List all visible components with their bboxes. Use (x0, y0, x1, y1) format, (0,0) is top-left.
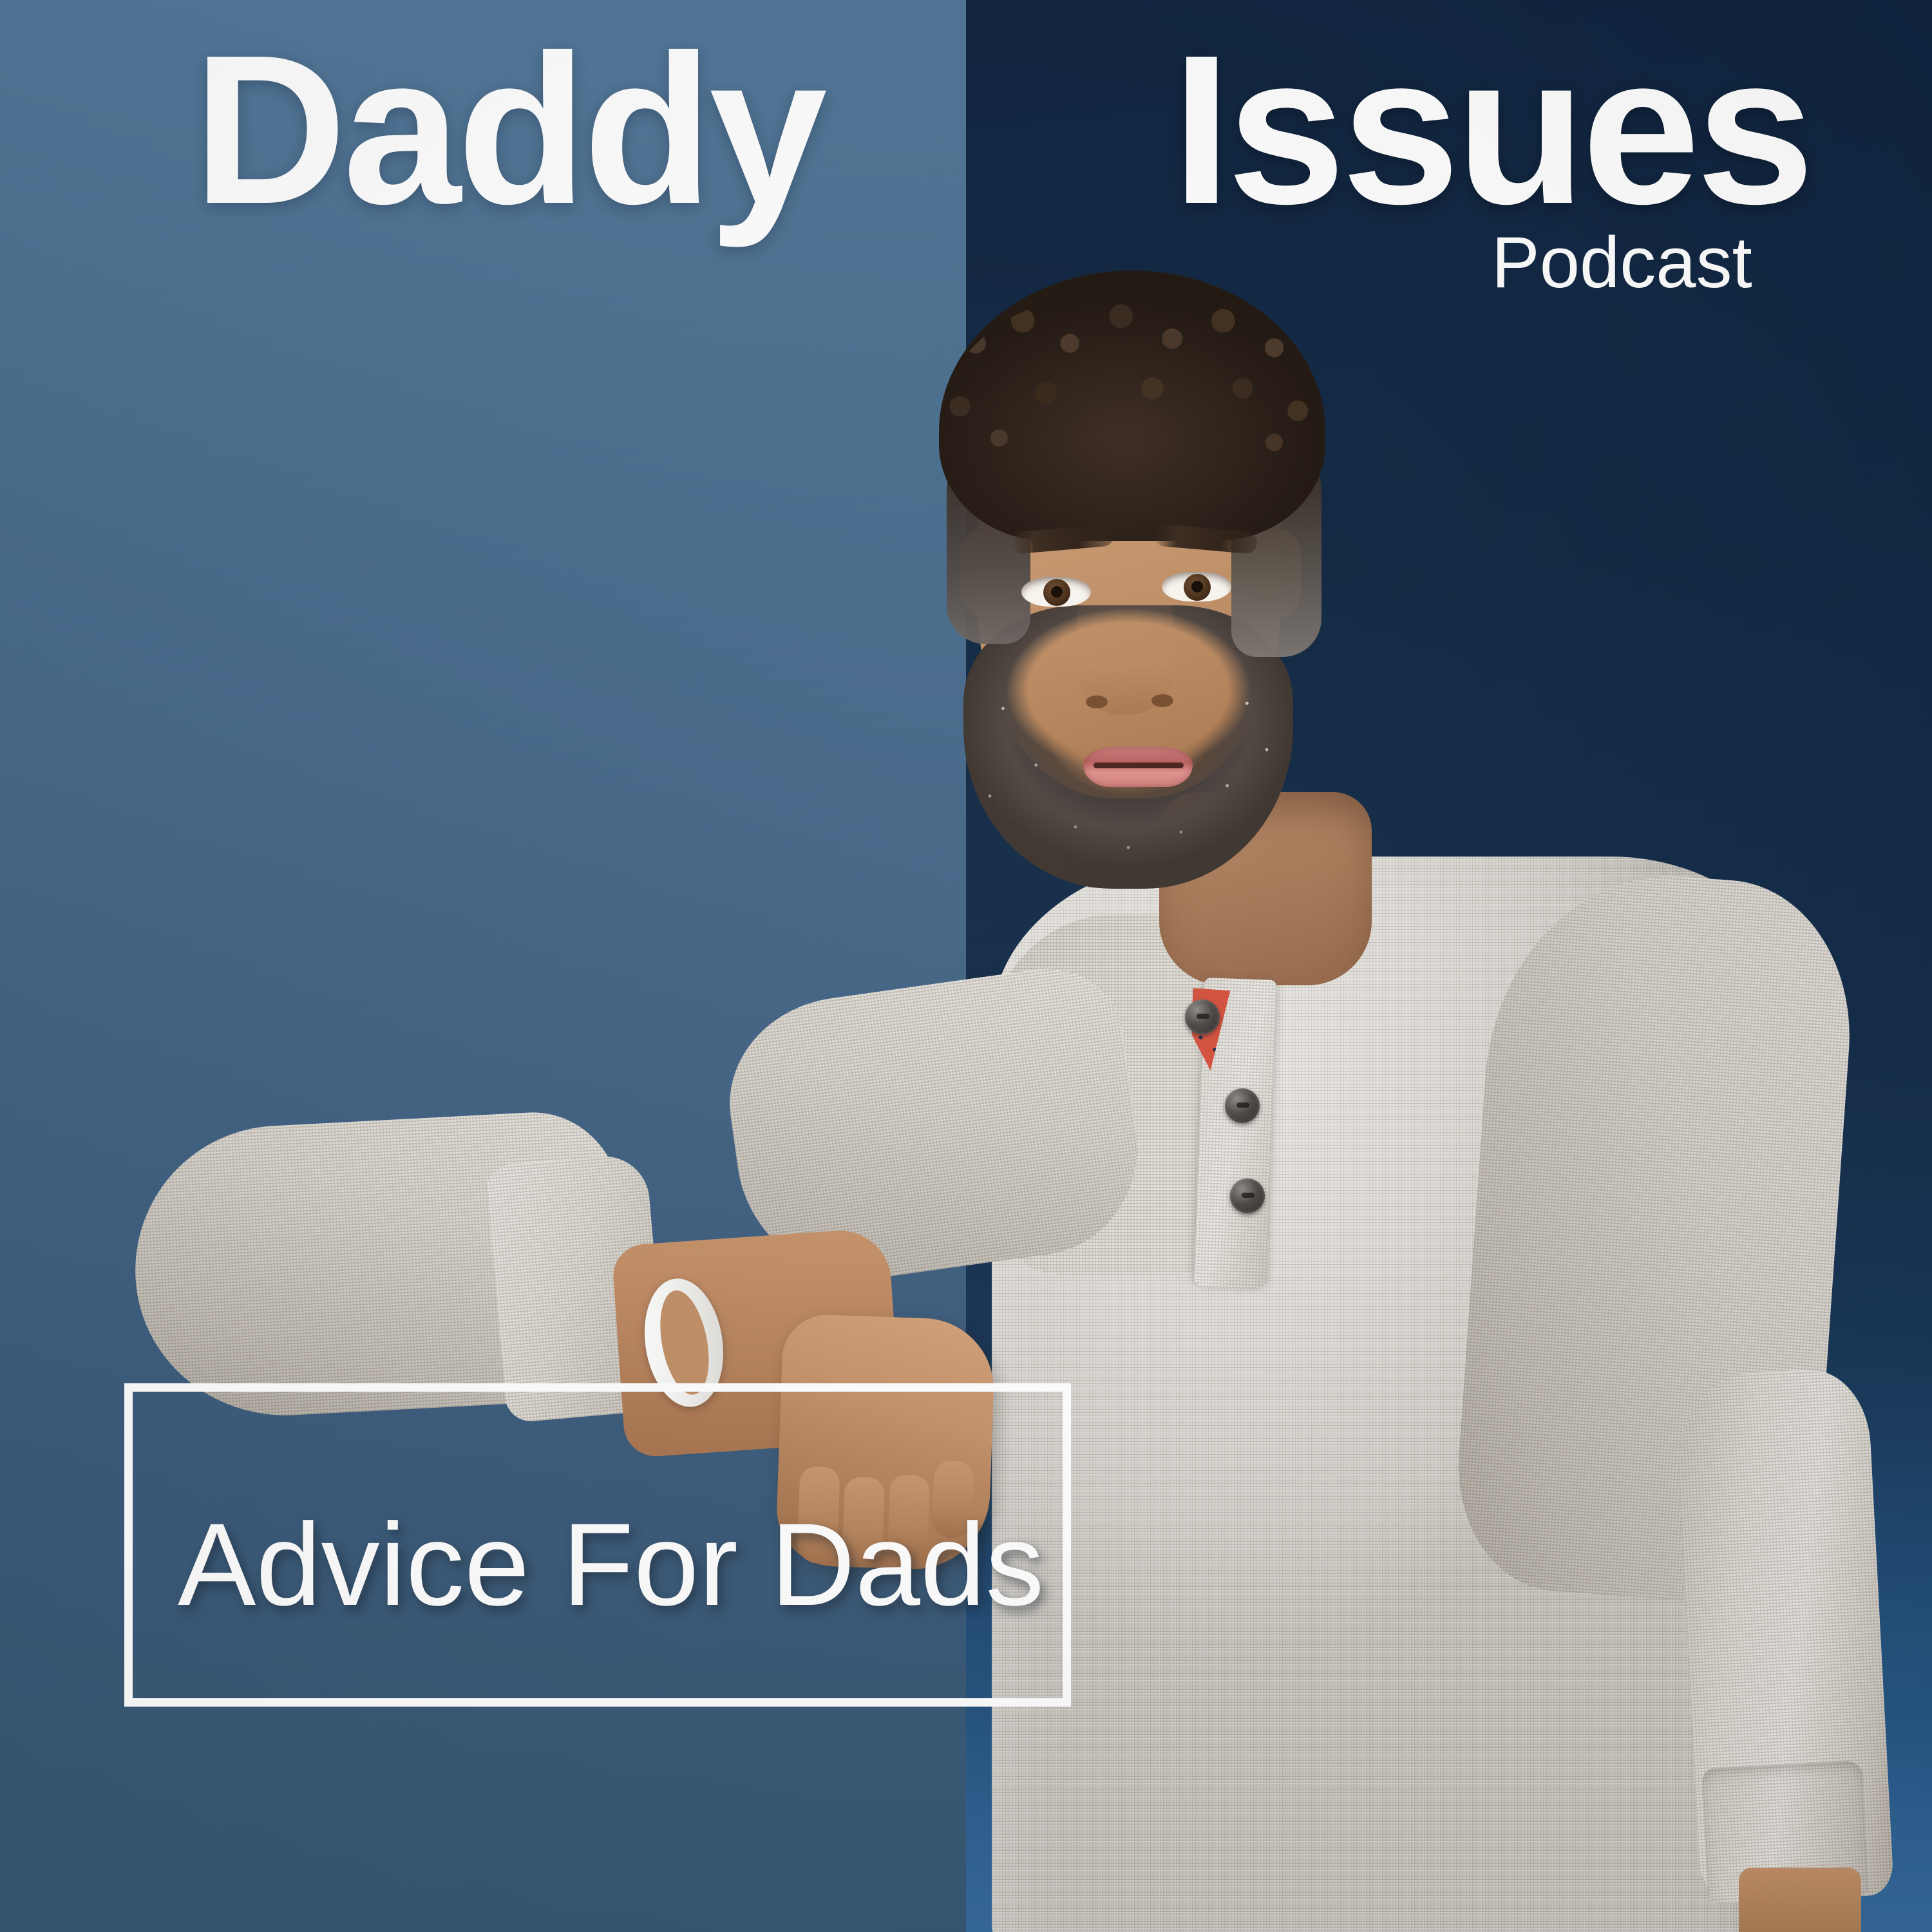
subtitle-podcast: Podcast (1492, 227, 1752, 299)
subject-hair-curly (939, 270, 1325, 541)
title-word-daddy: Daddy (193, 23, 824, 236)
subject-head (902, 270, 1365, 882)
shirt-button-icon (1185, 999, 1220, 1034)
subject-eye-left (1021, 577, 1091, 607)
podcast-cover-artwork: Daddy Issues Podcast Advice For Dads (0, 0, 1932, 1932)
subject-nostril-left (1086, 696, 1108, 708)
subject-nostril-right (1151, 694, 1173, 707)
shirt-button-icon (1230, 1179, 1265, 1213)
tagline-label: Advice For Dads (178, 1506, 1044, 1623)
subject-eye-right (1162, 572, 1231, 601)
iris (1184, 574, 1211, 601)
title-word-issues: Issues (1172, 23, 1810, 236)
subject-wrist-right (1739, 1868, 1861, 1932)
subject-mouth (1083, 747, 1193, 787)
iris (1043, 579, 1070, 606)
shirt-button-icon (1225, 1088, 1260, 1123)
